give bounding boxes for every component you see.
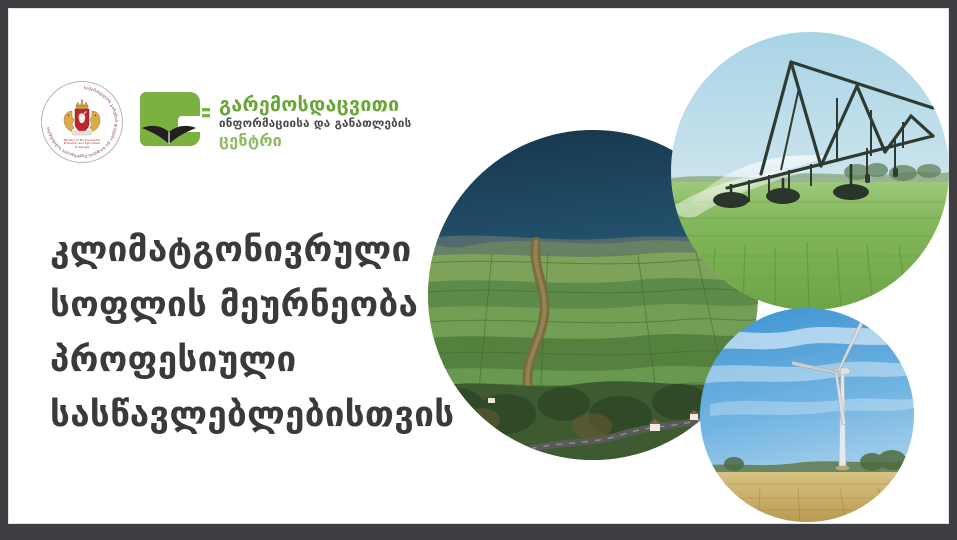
wind-turbine-illustration bbox=[700, 308, 914, 522]
eiec-logo-wordmark: გარემოსდაცვითი ინფორმაციისა და განათლები… bbox=[219, 95, 411, 149]
emblem-en-line-3: of Georgia bbox=[55, 146, 109, 149]
poster-banner: საქართველოს გარემოს დაცვისა და სოფლის მე… bbox=[0, 0, 957, 540]
eiec-logo-line-3: ცენტრი bbox=[219, 133, 411, 149]
emblem-english-text: Ministry of Environmental Protection and… bbox=[55, 139, 109, 149]
branding-row: საქართველოს გარემოს დაცვისა და სოფლის მე… bbox=[40, 80, 411, 164]
eiec-logo-line-1: გარემოსდაცვითი bbox=[219, 95, 411, 115]
headline-line-4: სასწავლებლებისთვის bbox=[50, 388, 480, 443]
wind-turbine-photo bbox=[700, 308, 914, 522]
eiec-logo: გარემოსდაცვითი ინფორმაციისა და განათლები… bbox=[138, 88, 411, 156]
book-in-green-square-logo-icon bbox=[138, 88, 210, 156]
georgia-ministry-coat-of-arms-icon: საქართველოს გარემოს დაცვისა და სოფლის მე… bbox=[40, 80, 124, 164]
headline-line-1: კლიმატგონივრული bbox=[50, 223, 480, 278]
poster-canvas: საქართველოს გარემოს დაცვისა და სოფლის მე… bbox=[8, 8, 949, 524]
headline-line-3: პროფესიული bbox=[50, 333, 480, 388]
poster-headline: კლიმატგონივრული სოფლის მეურნეობა პროფესი… bbox=[50, 223, 480, 443]
headline-line-2: სოფლის მეურნეობა bbox=[50, 278, 480, 333]
center-pivot-irrigation-photo bbox=[671, 32, 949, 310]
irrigation-illustration bbox=[671, 32, 949, 310]
eiec-logo-line-2: ინფორმაციისა და განათლების bbox=[219, 118, 411, 130]
coat-of-arms-crest-icon bbox=[59, 100, 105, 138]
